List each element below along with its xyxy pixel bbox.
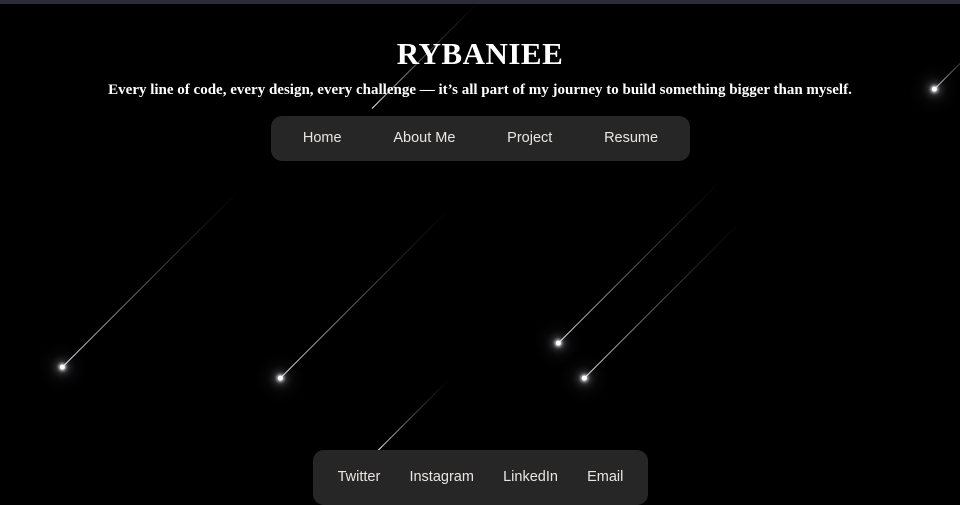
meteor-trail: [62, 190, 239, 367]
page-viewport: RYBANIEE Every line of code, every desig…: [0, 0, 960, 505]
meteor-center-left: [280, 208, 450, 378]
nav-item-home[interactable]: Home: [299, 125, 346, 152]
meteor-bottom-mid: [378, 379, 449, 450]
social-links-bar[interactable]: TwitterInstagramLinkedInEmail: [313, 450, 648, 505]
meteor-center-low: [584, 221, 742, 379]
social-link-email[interactable]: Email: [584, 468, 626, 487]
social-link-linkedin[interactable]: LinkedIn: [500, 468, 561, 487]
nav-item-resume[interactable]: Resume: [600, 125, 662, 152]
nav-item-project[interactable]: Project: [503, 125, 556, 152]
tagline-text: Every line of code, every design, every …: [0, 72, 960, 100]
nav-item-about-me[interactable]: About Me: [389, 125, 459, 152]
meteor-head-icon: [277, 375, 284, 382]
meteor-trail: [558, 179, 723, 344]
meteor-head-icon: [555, 340, 562, 347]
meteor-trail: [584, 221, 742, 379]
site-header: RYBANIEE Every line of code, every desig…: [0, 0, 960, 100]
meteor-trail: [280, 208, 450, 378]
meteor-center-mid: [558, 179, 723, 344]
meteor-left: [62, 190, 239, 367]
meteor-trail: [378, 379, 449, 450]
page-title: RYBANIEE: [0, 0, 960, 72]
social-link-twitter[interactable]: Twitter: [335, 468, 384, 487]
social-link-instagram[interactable]: Instagram: [406, 468, 476, 487]
main-navigation[interactable]: HomeAbout MeProjectResume: [271, 116, 690, 161]
browser-chrome-strip: [0, 0, 960, 4]
meteor-head-icon: [59, 364, 66, 371]
meteor-head-icon: [581, 375, 588, 382]
